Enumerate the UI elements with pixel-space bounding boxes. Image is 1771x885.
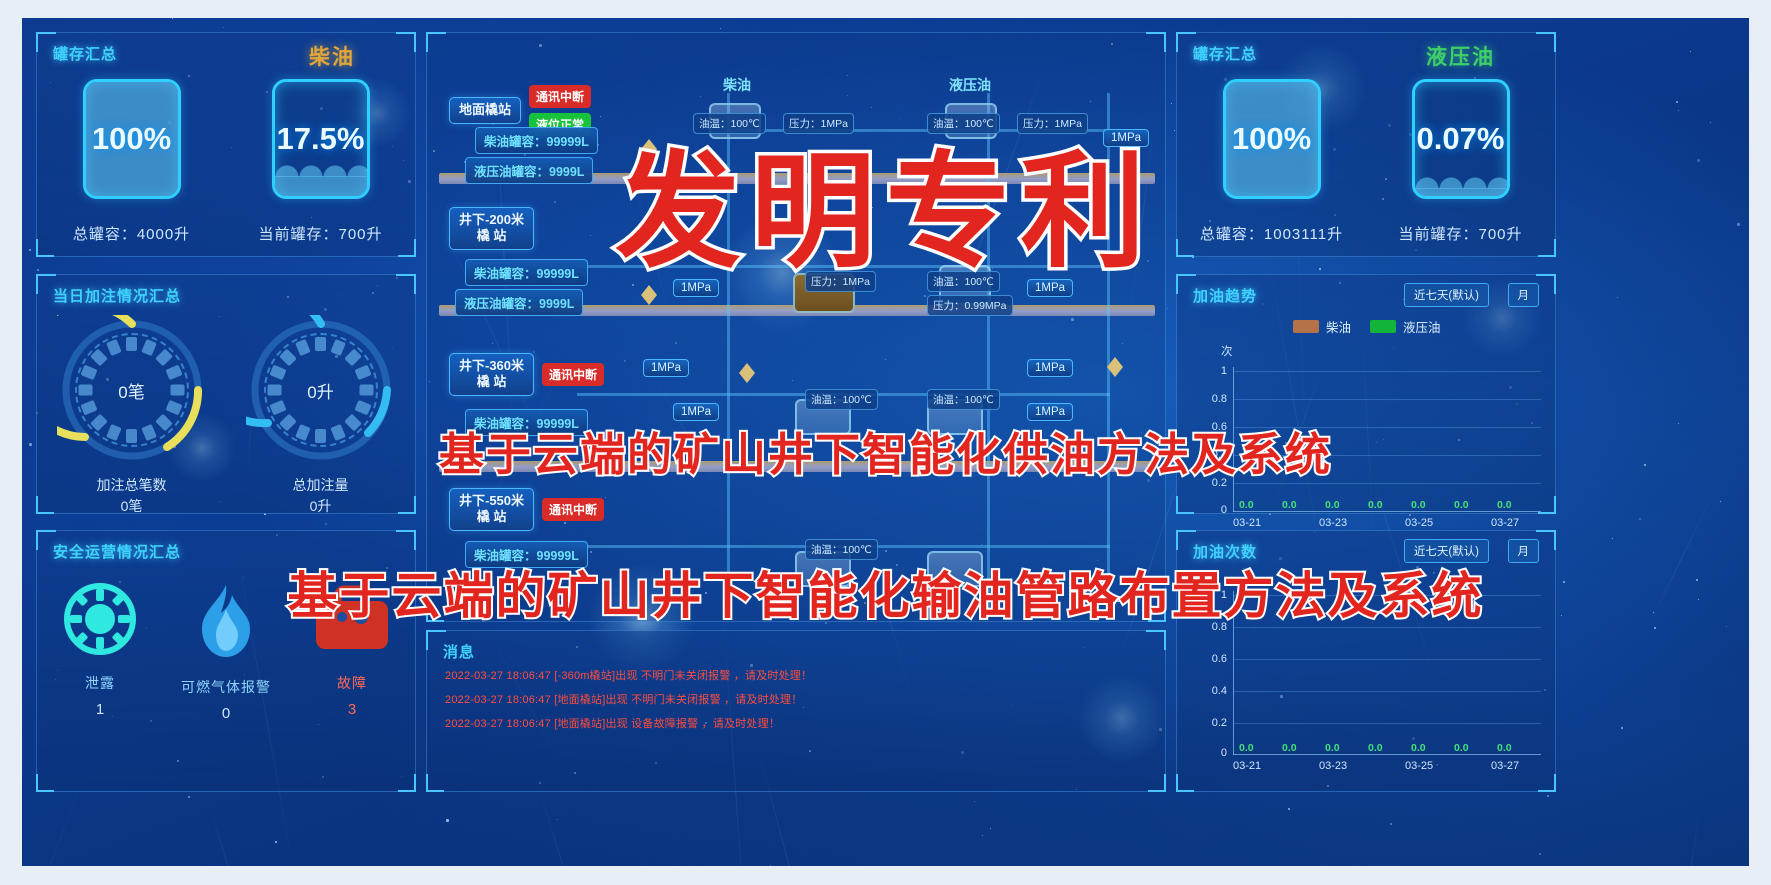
chart-xaxis (1233, 511, 1541, 512)
fuel-type-label: 液压油 (1426, 41, 1495, 71)
safety-value: 3 (348, 701, 356, 718)
capacity-label: 液压油罐容：9999L (455, 289, 583, 316)
tank-total-caption: 总罐容：1003111升 (1200, 223, 1343, 244)
gauge-value: 0升 (246, 315, 396, 465)
chart-xtick: 03-21 (1233, 517, 1261, 529)
gear-icon (62, 581, 138, 657)
tank-row: 100% 总罐容：1003111升 0.07% 当前罐存：700升 (1177, 79, 1555, 244)
tank-percent: 17.5% (275, 82, 367, 196)
chart-ytick: 1 (1199, 365, 1227, 377)
gauge-caption: 总加注量 0升 (293, 475, 349, 517)
station-minus200: 井下-200米 橇 站 (449, 207, 534, 250)
chart-xtick: 03-25 (1405, 760, 1433, 772)
gauge-caption-line1: 总加注量 (293, 475, 349, 496)
status-badge-comm: 通讯中断 (529, 85, 591, 108)
oil-title-diesel: 柴油 (723, 75, 751, 95)
gauge-graphic: 0笔 (57, 315, 207, 465)
station-minus360: 井下-360米 橇 站 通讯中断 (449, 353, 604, 396)
watermark-patent: 发明专利 (616, 110, 1156, 291)
chart-ytick: 0 (1199, 504, 1227, 516)
pressure-tag: 1MPa (1027, 359, 1073, 377)
chart-point-label: 0.0 (1411, 499, 1426, 511)
chart-point-label: 0.0 (1282, 499, 1297, 511)
oil-title-hydraulic: 液压油 (949, 75, 991, 95)
safety-item-gas-alarm: 可燃气体报警 0 (163, 581, 289, 722)
chart-ytick: 0.6 (1199, 653, 1227, 665)
tank-percent: 100% (86, 82, 178, 196)
flame-icon (188, 581, 264, 661)
gauge-caption-line2: 0笔 (97, 496, 167, 517)
param-tag: 压力：0.99MPa (927, 295, 1013, 316)
chart-xtick: 03-23 (1319, 760, 1347, 772)
tank-row: 100% 总罐容：4000升 17.5% 当前罐存：700升 (37, 79, 415, 244)
gauge-row: 0笔 加注总笔数 0笔 (37, 315, 415, 517)
station-name: 井下-550米 橇 站 (449, 488, 534, 531)
legend-swatch-diesel (1293, 320, 1319, 333)
dashboard: 罐存汇总 柴油 100% 总罐容：4000升 17.5% 当前罐存 (22, 18, 1749, 866)
station-minus550: 井下-550米 橇 站 通讯中断 (449, 488, 604, 531)
panel-refuel-today: 当日加注情况汇总 0笔 加注总笔数 (36, 274, 416, 514)
watermark-title-line1: 基于云端的矿山井下智能化供油方法及系统 (439, 418, 1332, 483)
chart-legend: 柴油 液压油 (1293, 317, 1441, 336)
station-name: 井下-200米 橇 站 (449, 207, 534, 250)
safety-label: 可燃气体报警 (181, 677, 271, 697)
status-badge-comm: 通讯中断 (542, 363, 604, 386)
range-button-month[interactable]: 月 (1508, 539, 1540, 563)
chart-ylabel: 次 (1221, 343, 1233, 359)
gauge-graphic: 0升 (246, 315, 396, 465)
chart-point-label: 0.0 (1239, 742, 1254, 754)
chart-xtick: 03-27 (1491, 760, 1519, 772)
tank-graphic-current: 0.07% (1412, 79, 1510, 199)
station-name: 地面橇站 (449, 97, 521, 123)
chart-xtick: 03-21 (1233, 760, 1261, 772)
legend-label-diesel: 柴油 (1326, 317, 1351, 336)
tank-current-caption: 当前罐存：700升 (258, 223, 382, 244)
message-item[interactable]: 2022-03-27 18:06:47 [地面橇站]出现 设备故障报警 ，请及时… (445, 715, 780, 731)
capacity-label: 柴油罐容：99999L (475, 127, 598, 154)
tank-percent: 100% (1226, 82, 1318, 196)
tank-graphic-total: 100% (83, 79, 181, 199)
param-tag: 油温：100℃ (927, 389, 1000, 410)
chart-point-label: 0.0 (1325, 499, 1340, 511)
chart-point-label: 0.0 (1325, 742, 1340, 754)
message-item[interactable]: 2022-03-27 18:06:47 [地面橇站]出现 不明门未关闭报警 ，请… (445, 691, 802, 707)
chart-xtick: 03-25 (1405, 517, 1433, 529)
message-item[interactable]: 2022-03-27 18:06:47 [-360m橇站]出现 不明门未关闭报警… (445, 667, 812, 683)
legend-label-hydraulic: 液压油 (1403, 317, 1441, 336)
station-name: 井下-360米 橇 站 (449, 353, 534, 396)
panel-tank-hydraulic: 罐存汇总 液压油 100% 总罐容：1003111升 0.07% (1176, 32, 1556, 257)
safety-label: 泄露 (85, 673, 115, 693)
gauge-caption: 加注总笔数 0笔 (97, 475, 167, 517)
range-button-week[interactable]: 近七天(默认) (1404, 283, 1489, 307)
panel-title: 罐存汇总 (53, 43, 117, 64)
chart-ytick: 0.4 (1199, 685, 1227, 697)
screenshot-root: 罐存汇总 柴油 100% 总罐容：4000升 17.5% 当前罐存 (0, 0, 1771, 885)
chart-point-label: 0.0 (1454, 742, 1469, 754)
watermark-title-line2: 基于云端的矿山井下智能化输油管路布置方法及系统 (288, 556, 1484, 628)
chart-gridline (1233, 659, 1541, 660)
chart-point-label: 0.0 (1497, 742, 1512, 754)
chart-xaxis (1233, 754, 1541, 755)
panel-title: 加油趋势 (1193, 285, 1257, 306)
panel-title: 罐存汇总 (1193, 43, 1257, 64)
tank-total-caption: 总罐容：4000升 (73, 223, 190, 244)
gauge-value: 0笔 (57, 315, 207, 465)
chart-gridline (1233, 483, 1541, 484)
gauge-caption-line2: 0升 (293, 496, 349, 517)
panel-title: 当日加注情况汇总 (53, 285, 181, 306)
chart-xtick: 03-27 (1491, 517, 1519, 529)
chart-point-label: 0.0 (1411, 742, 1426, 754)
chart-gridline (1233, 371, 1541, 372)
fuel-type-label: 柴油 (309, 41, 355, 71)
tank-total: 100% 总罐容：4000升 (37, 79, 226, 244)
chart-point-label: 0.0 (1282, 742, 1297, 754)
panel-messages: 消息 2022-03-27 18:06:47 [-360m橇站]出现 不明门未关… (426, 630, 1166, 792)
chart-point-label: 0.0 (1368, 742, 1383, 754)
param-tag: 油温：100℃ (805, 389, 878, 410)
chart-gridline (1233, 723, 1541, 724)
panel-title: 安全运营情况汇总 (53, 541, 181, 562)
chart-point-label: 0.0 (1454, 499, 1469, 511)
gauge-refuel-volume: 0升 总加注量 0升 (226, 315, 415, 517)
chart-point-label: 0.0 (1368, 499, 1383, 511)
capacity-label: 液压油罐容：9999L (465, 157, 593, 184)
tank-total: 100% 总罐容：1003111升 (1177, 79, 1366, 244)
capacity-label: 柴油罐容：99999L (465, 259, 588, 286)
gauge-refuel-count: 0笔 加注总笔数 0笔 (37, 315, 226, 517)
chart-gridline (1233, 691, 1541, 692)
panel-tank-diesel: 罐存汇总 柴油 100% 总罐容：4000升 17.5% 当前罐存 (36, 32, 416, 257)
safety-value: 1 (96, 701, 104, 718)
tank-current: 17.5% 当前罐存：700升 (226, 79, 415, 244)
tank-current: 0.07% 当前罐存：700升 (1366, 79, 1555, 244)
pressure-tag: 1MPa (643, 359, 689, 377)
chart-ytick: 0.2 (1199, 717, 1227, 729)
safety-label: 故障 (337, 673, 367, 693)
tank-graphic-current: 17.5% (272, 79, 370, 199)
chart-point-label: 0.0 (1239, 499, 1254, 511)
gauge-caption-line1: 加注总笔数 (97, 475, 167, 496)
panel-title: 消息 (443, 641, 475, 662)
safety-value: 0 (222, 705, 230, 722)
legend-swatch-hydraulic (1370, 320, 1396, 333)
tank-graphic-total: 100% (1223, 79, 1321, 199)
tank-current-caption: 当前罐存：700升 (1398, 223, 1522, 244)
chart-point-label: 0.0 (1497, 499, 1512, 511)
range-button-month[interactable]: 月 (1508, 283, 1540, 307)
tank-percent: 0.07% (1415, 82, 1507, 196)
safety-item-leak: 泄露 1 (37, 581, 163, 722)
chart-ytick: 0 (1199, 747, 1227, 759)
chart-ytick: 0.8 (1199, 393, 1227, 405)
chart-xtick: 03-23 (1319, 517, 1347, 529)
chart-gridline (1233, 399, 1541, 400)
status-badge-comm: 通讯中断 (542, 498, 604, 521)
